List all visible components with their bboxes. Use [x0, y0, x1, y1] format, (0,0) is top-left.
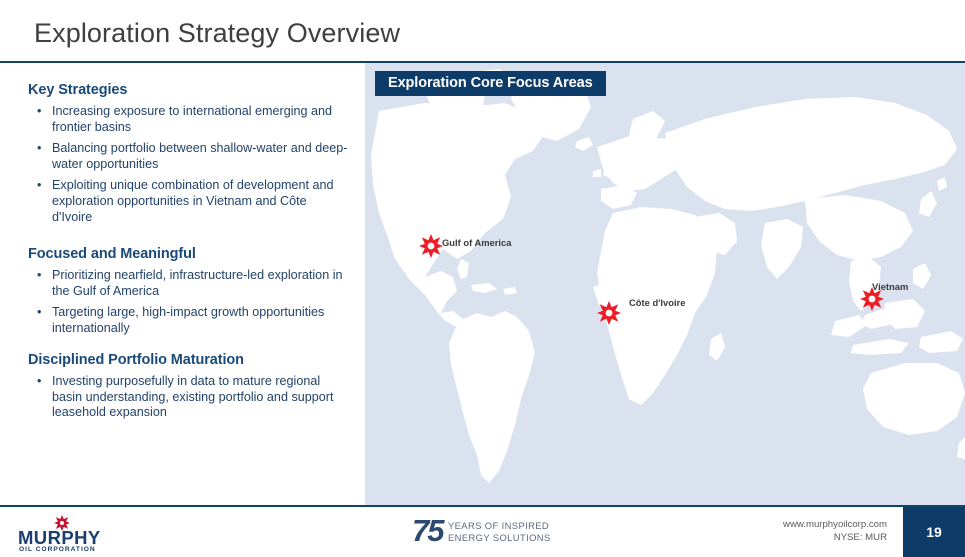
strategy-heading: Key Strategies	[28, 81, 348, 99]
murphy-oil-logo: MURPHY OIL CORPORATION	[18, 515, 118, 551]
strategy-bullet-list: • Increasing exposure to international e…	[28, 104, 348, 225]
anniversary-line-1: YEARS OF INSPIRED	[448, 520, 551, 532]
map-marker-label: Côte d'Ivoire	[629, 297, 685, 308]
list-item-text: Investing purposefully in data to mature…	[52, 374, 333, 419]
list-item: • Balancing portfolio between shallow-wa…	[28, 141, 348, 172]
list-item: • Investing purposefully in data to matu…	[28, 374, 348, 421]
bullet-glyph: •	[37, 374, 41, 390]
list-item: • Increasing exposure to international e…	[28, 104, 348, 135]
key-strategies-panel: Key Strategies • Increasing exposure to …	[0, 63, 365, 505]
list-item: • Targeting large, high-impact growth op…	[28, 305, 348, 336]
slide-root: Exploration Strategy Overview Key Strate…	[0, 0, 965, 557]
website-url[interactable]: www.murphyoilcorp.com	[783, 518, 887, 531]
strategy-bullet-list: • Investing purposefully in data to matu…	[28, 374, 348, 421]
anniversary-line-2: ENERGY SOLUTIONS	[448, 532, 551, 544]
star-marker-icon	[419, 234, 443, 258]
list-item-text: Balancing portfolio between shallow-wate…	[52, 141, 347, 171]
bullet-glyph: •	[37, 268, 41, 284]
strategy-group-key-strategies: Key Strategies • Increasing exposure to …	[28, 81, 348, 231]
list-item-text: Targeting large, high-impact growth oppo…	[52, 305, 324, 335]
strategy-bullet-list: • Prioritizing nearfield, infrastructure…	[28, 268, 348, 336]
strategy-heading: Disciplined Portfolio Maturation	[28, 351, 348, 369]
footer-contact-block: www.murphyoilcorp.com NYSE: MUR	[783, 518, 887, 544]
murphy-subtitle: OIL CORPORATION	[19, 546, 96, 554]
bullet-glyph: •	[37, 178, 41, 194]
strategy-group-focused-and-meaningful: Focused and Meaningful • Prioritizing ne…	[28, 245, 348, 342]
anniversary-number: 75	[412, 515, 442, 547]
world-map-panel: Exploration Core Focus Areas Gulf of Ame…	[365, 63, 965, 505]
stock-ticker: NYSE: MUR	[783, 531, 887, 544]
footer-bar: MURPHY OIL CORPORATION 75 YEARS OF INSPI…	[0, 507, 965, 557]
bullet-glyph: •	[37, 104, 41, 120]
star-marker-icon	[597, 301, 621, 325]
bullet-glyph: •	[37, 305, 41, 321]
strategy-group-disciplined-portfolio-maturation: Disciplined Portfolio Maturation • Inves…	[28, 351, 348, 427]
strategy-heading: Focused and Meaningful	[28, 245, 348, 263]
list-item-text: Increasing exposure to international eme…	[52, 104, 332, 134]
anniversary-tagline: YEARS OF INSPIRED ENERGY SOLUTIONS	[448, 520, 551, 543]
map-marker-label: Vietnam	[872, 281, 908, 292]
map-banner-title: Exploration Core Focus Areas	[375, 71, 606, 96]
list-item-text: Exploiting unique combination of develop…	[52, 178, 333, 223]
map-marker-label: Gulf of America	[442, 237, 511, 248]
list-item: • Exploiting unique combination of devel…	[28, 178, 348, 225]
murphy-wordmark: MURPHY	[18, 528, 101, 547]
page-title: Exploration Strategy Overview	[34, 16, 400, 50]
page-number-box: 19	[903, 507, 965, 557]
page-number: 19	[903, 507, 965, 557]
list-item-text: Prioritizing nearfield, infrastructure-l…	[52, 268, 343, 298]
list-item: • Prioritizing nearfield, infrastructure…	[28, 268, 348, 299]
bullet-glyph: •	[37, 141, 41, 157]
